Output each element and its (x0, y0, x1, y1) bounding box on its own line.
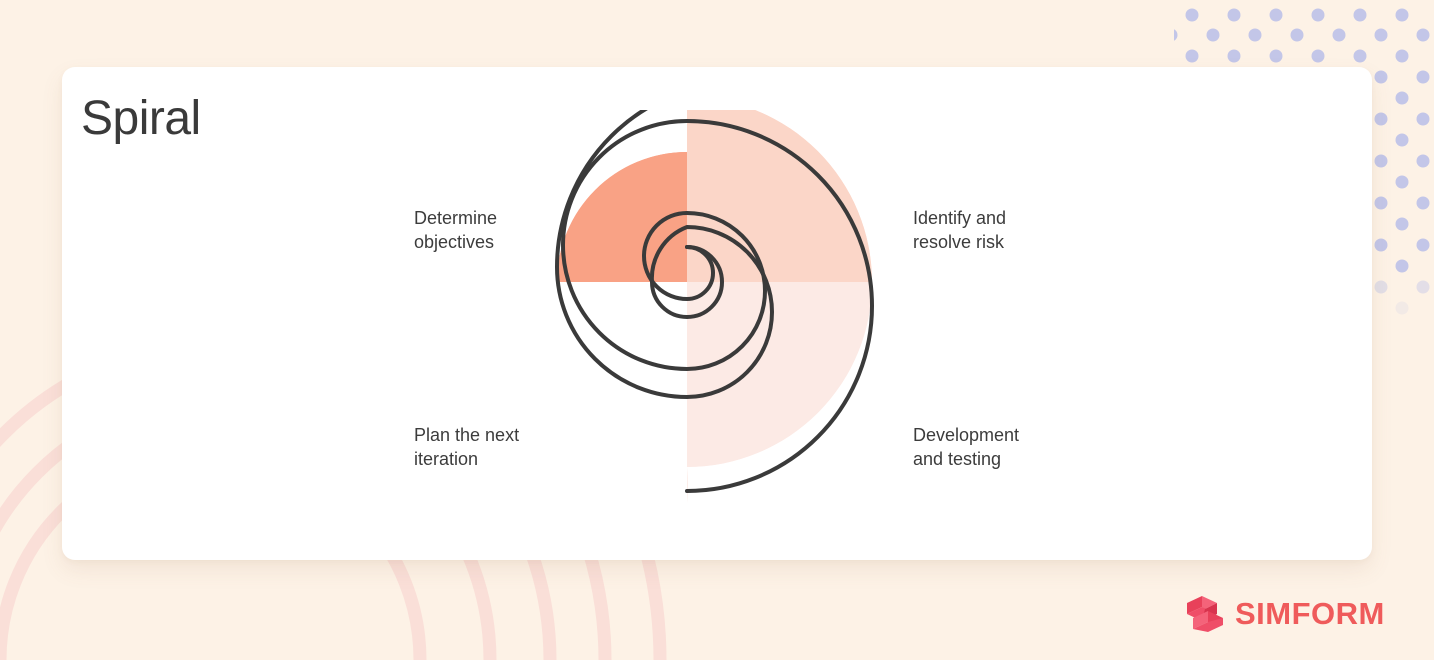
spiral-svg (540, 110, 900, 510)
label-plan-the-next-iteration: Plan the next iteration (414, 423, 519, 471)
simform-logo: SIMFORM (1184, 594, 1385, 632)
simform-ribbon-logo-icon (1184, 594, 1226, 632)
screenshot-root: Spiral (0, 0, 1434, 660)
simform-wordmark: SIMFORM (1235, 598, 1385, 629)
label-development-and-testing: Development and testing (913, 423, 1019, 471)
label-identify-and-resolve-risk: Identify and resolve risk (913, 206, 1006, 254)
spiral-model-diagram (540, 110, 900, 510)
label-determine-objectives: Determine objectives (414, 206, 497, 254)
page-title: Spiral (81, 90, 201, 148)
